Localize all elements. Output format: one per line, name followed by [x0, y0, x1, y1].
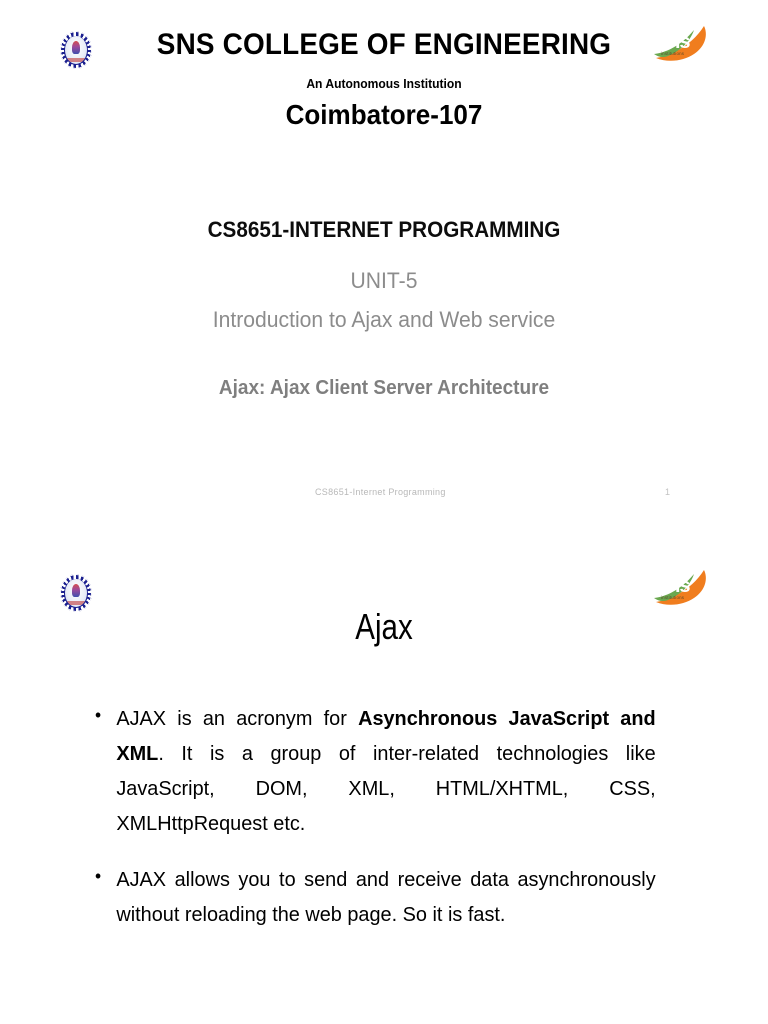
slide-page-number: 1 [665, 487, 670, 497]
slide-footer-note: CS8651-Internet Programming [315, 487, 446, 497]
topic-title: Ajax: Ajax Client Server Architecture [19, 377, 749, 400]
page-title: SNS COLLEGE OF ENGINEERING [27, 28, 741, 62]
institution-subtitle: An Autonomous Institution [27, 76, 741, 91]
unit-label: UNIT-5 [15, 268, 752, 294]
svg-text:institutions: institutions [661, 595, 685, 600]
sns-brand-logo-icon: sns institutions [650, 566, 712, 610]
slide-ajax: sns institutions Ajax AJAX is an acronym… [0, 548, 768, 1024]
svg-text:sns: sns [658, 575, 690, 597]
city-line: Coimbatore-107 [27, 99, 741, 131]
unit-subtitle: Introduction to Ajax and Web service [15, 307, 752, 333]
bullet-list: AJAX is an acronym for Asynchronous Java… [95, 680, 673, 951]
bullet-text: AJAX allows you to send and receive data… [116, 868, 655, 926]
bullet-text: . It is a group of inter-related technol… [116, 742, 655, 836]
list-item: AJAX allows you to send and receive data… [95, 862, 656, 933]
slide-title: sns institutions SNS COLLEGE OF ENGINEER… [0, 0, 768, 548]
list-item: AJAX is an acronym for Asynchronous Java… [95, 701, 656, 842]
bullet-text: AJAX is an acronym for [116, 707, 358, 730]
slide-heading: Ajax [69, 606, 699, 648]
course-title: CS8651-INTERNET PROGRAMMING [23, 217, 745, 243]
